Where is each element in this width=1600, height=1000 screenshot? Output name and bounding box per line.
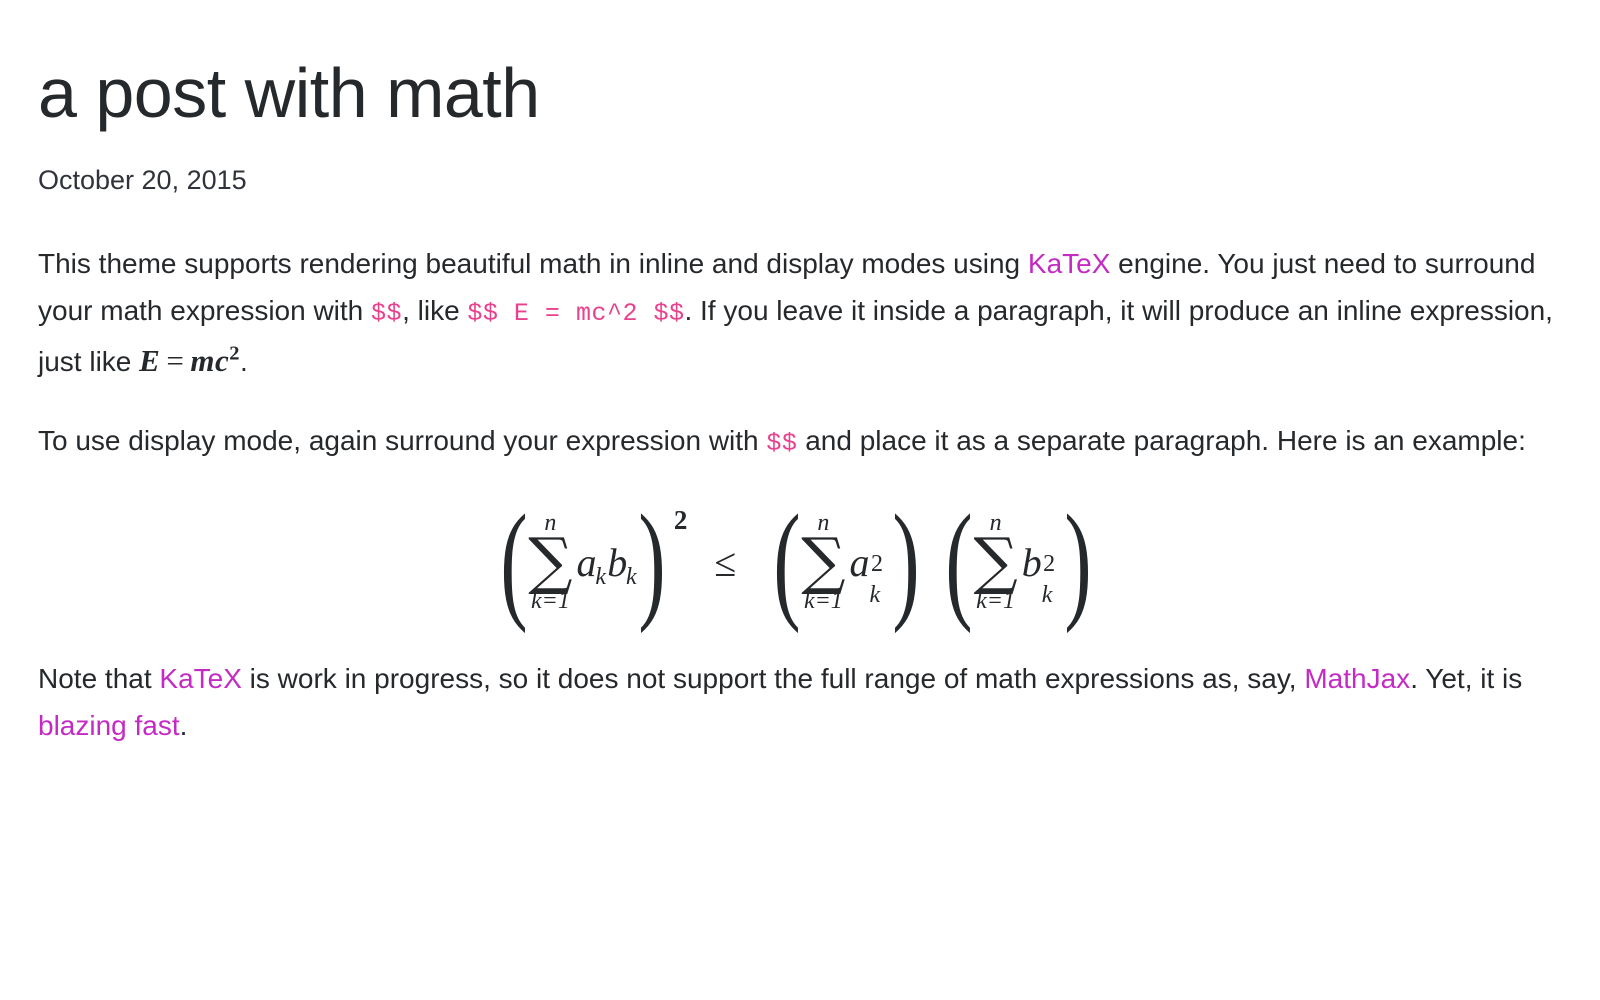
inline-math-exponent: 2 (229, 343, 240, 365)
inline-math-emc2: E=mc2 (139, 337, 240, 384)
paren-open-icon: ( (774, 513, 801, 608)
formula-exponent: 2 (674, 507, 688, 534)
var-a: a (850, 540, 870, 585)
paren-open-icon: ( (501, 513, 528, 608)
sup-2: 2 (871, 552, 883, 576)
inline-math-m: m (190, 343, 215, 378)
post-date: October 20, 2015 (38, 164, 1554, 196)
code-dollar-delimiters: $$ (766, 429, 797, 458)
sigma-icon: ∑ (973, 536, 1017, 587)
text-segment: . (240, 346, 248, 377)
var-b: b (1022, 540, 1042, 585)
display-math-block: (n∑k=1akbk)2 ≤ (n∑k=1a2k) (n∑k=1b2k) (38, 511, 1554, 613)
paren-open-icon: ( (946, 513, 973, 608)
text-segment: and place it as a separate paragraph. He… (797, 425, 1525, 456)
text-segment: . Yet, it is (1410, 663, 1522, 694)
text-segment: , like (402, 295, 467, 326)
summation-3: n∑k=1 (973, 511, 1017, 613)
var-b: b (607, 540, 627, 585)
paren-close-icon: ) (892, 513, 919, 608)
code-emc2-snippet: $$ E = mc^2 $$ (467, 299, 684, 328)
paragraph-note: Note that KaTeX is work in progress, so … (38, 655, 1554, 749)
code-dollar-delimiters: $$ (371, 299, 402, 328)
inline-math-c: c (215, 343, 229, 378)
term-bk-squared: b2k (1022, 543, 1064, 583)
sum-limit-bottom: k=1 (801, 589, 845, 613)
var-a: a (577, 540, 597, 585)
sigma-icon: ∑ (801, 536, 845, 587)
post-page: a post with math October 20, 2015 This t… (0, 0, 1600, 1000)
sigma-icon: ∑ (528, 536, 572, 587)
text-segment: is work in progress, so it does not supp… (242, 663, 1304, 694)
formula-group-middle: (n∑k=1a2k) (763, 511, 929, 613)
term-ak-bk: akbk (577, 543, 638, 583)
link-blazing-fast[interactable]: blazing fast (38, 710, 180, 741)
sub-k: k (595, 564, 606, 590)
post-body: This theme supports rendering beautiful … (38, 240, 1554, 749)
formula-group-right: (n∑k=1b2k) (935, 511, 1101, 613)
summation-1: n∑k=1 (528, 511, 572, 613)
page-title: a post with math (38, 58, 1554, 128)
formula-group-left: (n∑k=1akbk)2 (490, 511, 687, 613)
link-katex[interactable]: KaTeX (159, 663, 242, 694)
relation-leq-icon: ≤ (696, 543, 754, 583)
sum-limit-bottom: k=1 (528, 589, 572, 613)
inline-math-equals: = (160, 343, 190, 378)
link-mathjax[interactable]: MathJax (1304, 663, 1410, 694)
text-segment: . (180, 710, 188, 741)
sup-2: 2 (1043, 552, 1055, 576)
paren-close-icon: ) (1064, 513, 1091, 608)
text-segment: To use display mode, again surround your… (38, 425, 766, 456)
link-katex[interactable]: KaTeX (1028, 248, 1111, 279)
inline-math-E: E (139, 343, 160, 378)
cauchy-schwarz-formula: (n∑k=1akbk)2 ≤ (n∑k=1a2k) (n∑k=1b2k) (490, 511, 1101, 613)
sub-k: k (626, 564, 637, 590)
sub-k: k (870, 583, 881, 607)
paren-close-icon: ) (638, 513, 665, 608)
sum-limit-bottom: k=1 (973, 589, 1017, 613)
sub-k: k (1042, 583, 1053, 607)
text-segment: Note that (38, 663, 159, 694)
paragraph-intro: This theme supports rendering beautiful … (38, 240, 1554, 385)
text-segment: This theme supports rendering beautiful … (38, 248, 1028, 279)
term-ak-squared: a2k (850, 543, 892, 583)
summation-2: n∑k=1 (801, 511, 845, 613)
paragraph-display-mode: To use display mode, again surround your… (38, 417, 1554, 467)
